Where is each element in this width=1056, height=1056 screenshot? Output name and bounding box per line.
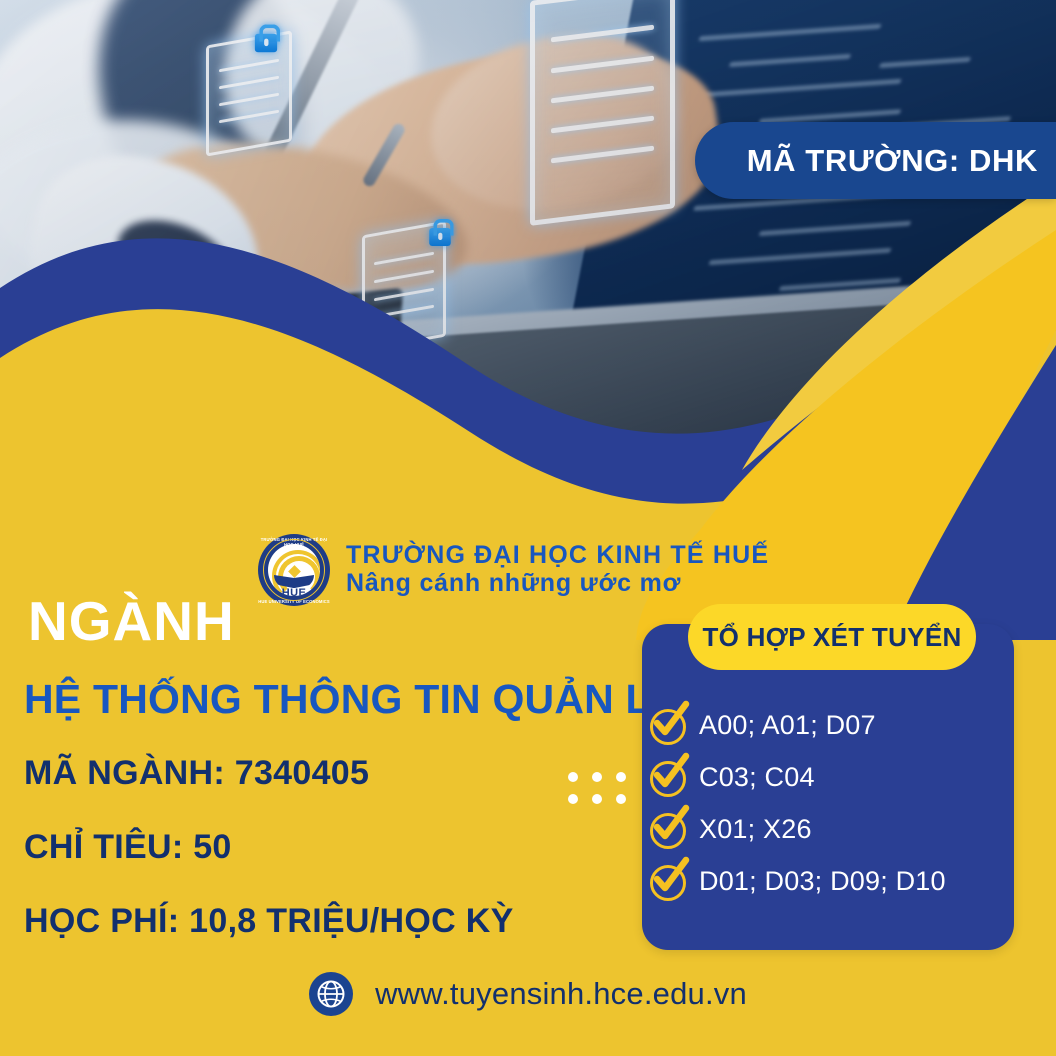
check-circle-icon <box>648 758 686 796</box>
list-item: A00; A01; D07 <box>648 706 1008 744</box>
combination-text: A00; A01; D07 <box>699 710 876 741</box>
check-circle-icon <box>648 862 686 900</box>
check-circle-icon <box>648 810 686 848</box>
major-tuition: HỌC PHÍ: 10,8 TRIỆU/HỌC KỲ <box>24 904 644 938</box>
university-name: TRƯỜNG ĐẠI HỌC KINH TẾ HUẾ <box>346 541 769 569</box>
list-item: C03; C04 <box>648 758 1008 796</box>
school-code-badge: MÃ TRƯỜNG: DHK <box>695 122 1056 199</box>
combination-text: X01; X26 <box>699 814 812 845</box>
list-item: X01; X26 <box>648 810 1008 848</box>
admission-combination-list: A00; A01; D07 C03; C04 X01; X26 <box>648 706 1008 900</box>
major-quota: CHỈ TIÊU: 50 <box>24 830 644 864</box>
footer: www.tuyensinh.hce.edu.vn <box>0 972 1056 1016</box>
school-code-label: MÃ TRƯỜNG: DHK <box>747 143 1038 179</box>
admission-panel-title-badge: TỔ HỢP XÉT TUYỂN <box>688 604 976 670</box>
list-item: D01; D03; D09; D10 <box>648 862 1008 900</box>
combination-text: C03; C04 <box>699 762 815 793</box>
website-url: www.tuyensinh.hce.edu.vn <box>375 976 747 1012</box>
dot-grid-decoration <box>568 772 626 804</box>
globe-icon <box>309 972 353 1016</box>
combination-text: D01; D03; D09; D10 <box>699 866 946 897</box>
check-circle-icon <box>648 706 686 744</box>
major-code: MÃ NGÀNH: 7340405 <box>24 756 644 790</box>
major-title: HỆ THỐNG THÔNG TIN QUẢN LÝ <box>24 679 644 720</box>
admission-poster: MÃ TRƯỜNG: DHK TRƯỜNG ĐẠI HỌC KINH TẾ ĐẠ… <box>0 0 1056 1056</box>
major-kicker: NGÀNH <box>28 594 644 649</box>
major-info-block: NGÀNH HỆ THỐNG THÔNG TIN QUẢN LÝ MÃ NGÀN… <box>24 594 644 938</box>
admission-panel-title: TỔ HỢP XÉT TUYỂN <box>702 622 961 653</box>
